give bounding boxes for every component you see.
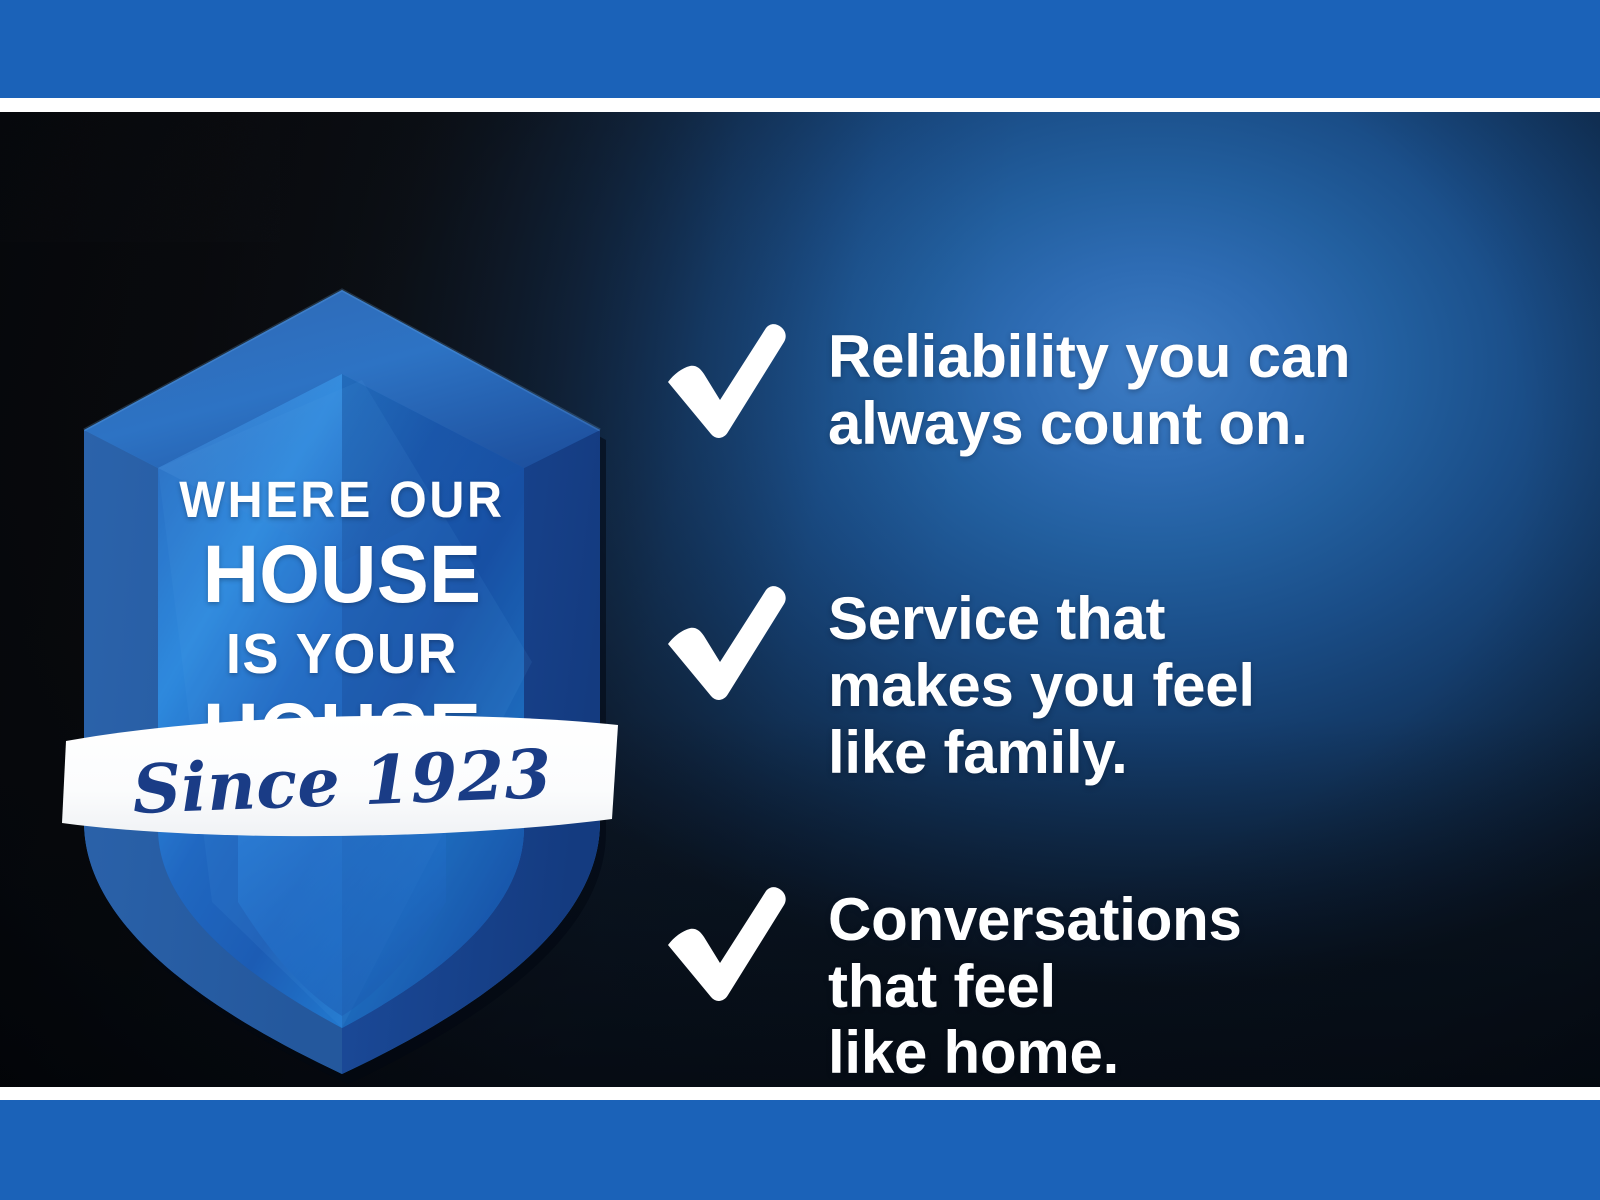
benefit-text: Service that makes you feel like family. [828, 586, 1562, 787]
shield-graphic [62, 262, 622, 1052]
company-shield-emblem: WHERE OUR HOUSE IS YOUR HOUSE [62, 262, 622, 1052]
benefit-item-service: Service that makes you feel like family. [662, 586, 1562, 787]
check-icon [662, 324, 790, 442]
check-icon [662, 887, 790, 1005]
benefit-item-reliability: Reliability you can always count on. [662, 324, 1562, 474]
bottom-brand-bar [0, 1100, 1600, 1200]
benefit-text: Reliability you can always count on. [828, 324, 1562, 458]
benefit-text: Conversations that feel like home. [828, 887, 1562, 1087]
check-icon [662, 586, 790, 704]
main-panel: WHERE OUR HOUSE IS YOUR HOUSE [0, 112, 1600, 1087]
benefits-list: Reliability you can always count on. Ser… [662, 302, 1562, 1087]
top-white-divider [0, 98, 1600, 112]
promo-graphic: WHERE OUR HOUSE IS YOUR HOUSE [0, 0, 1600, 1200]
top-brand-bar [0, 0, 1600, 98]
benefit-item-conversations: Conversations that feel like home. [662, 887, 1562, 1087]
bottom-white-divider [0, 1087, 1600, 1100]
